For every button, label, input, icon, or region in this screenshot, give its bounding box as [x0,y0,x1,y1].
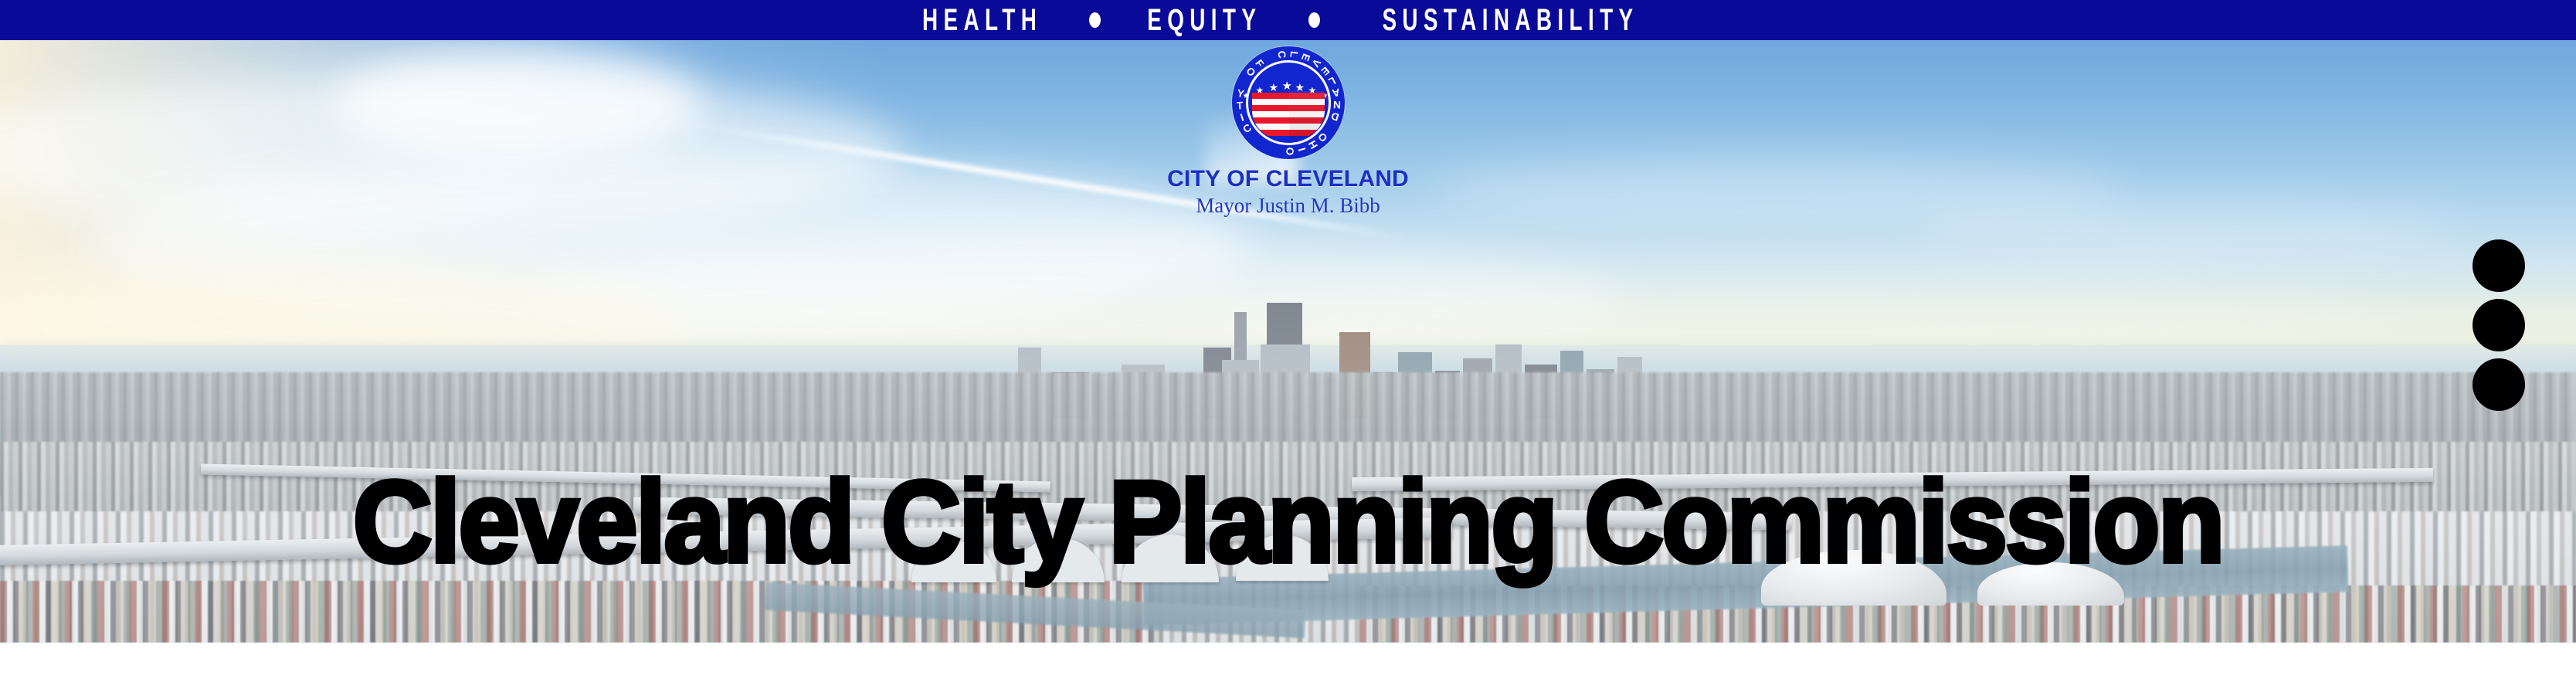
tagline-word-equity: EQUITY [1146,5,1263,36]
brand-subtitle: Mayor Justin M. Bibb [1088,195,1489,218]
brand-title: CITY OF CLEVELAND [1088,167,1489,192]
facebook-link[interactable] [2472,358,2525,411]
city-of-cleveland-seal-icon: CITY OF CLEVELAND OHIO ★★★★★★★ [1232,46,1345,159]
facebook-icon [2483,369,2514,400]
seal-flag [1252,91,1325,139]
page-root: HEALTH EQUITY SUSTAINABILITY [0,0,2576,682]
youtube-link[interactable] [2472,239,2525,292]
brand-lockup: CITY OF CLEVELAND OHIO ★★★★★★★ CITY OF C… [1088,46,1489,217]
instagram-icon [2483,310,2514,341]
hero-photo: CITY OF CLEVELAND OHIO ★★★★★★★ CITY OF C… [0,40,2576,643]
instagram-link[interactable] [2472,299,2525,351]
tagline-word-health: HEALTH [921,5,1044,36]
youtube-icon [2483,250,2514,281]
tagline-banner: HEALTH EQUITY SUSTAINABILITY [0,0,2576,40]
tagline-word-sustainability: SUSTAINABILITY [1381,5,1640,36]
bullet-dot-icon [1308,12,1320,28]
tagline-banner-inner: HEALTH EQUITY SUSTAINABILITY [908,7,1668,33]
social-rail [2466,239,2531,411]
bullet-dot-icon [1089,12,1101,28]
